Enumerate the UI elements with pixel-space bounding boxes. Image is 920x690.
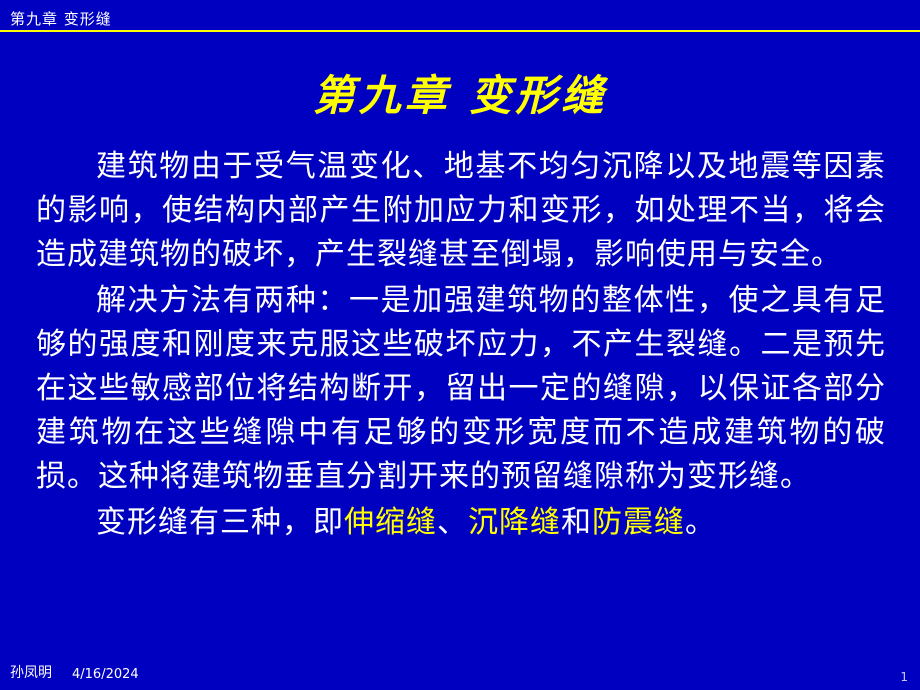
slide-body: 建筑物由于受气温变化、地基不均匀沉降以及地震等因素的影响，使结构内部产生附加应力… bbox=[36, 145, 886, 547]
slide-header-title: 第九章 变形缝 bbox=[10, 8, 112, 29]
text-run: 。 bbox=[685, 505, 716, 540]
page-title: 第九章 变形缝 bbox=[0, 62, 920, 123]
header-divider bbox=[0, 30, 920, 32]
paragraph-2: 解决方法有两种：一是加强建筑物的整体性，使之具有足够的强度和刚度来克服这些破坏应… bbox=[36, 279, 886, 499]
footer-page-number: 1 bbox=[900, 670, 908, 684]
footer-author: 孙凤明 bbox=[10, 662, 52, 682]
slide: 第九章 变形缝 第九章 变形缝 建筑物由于受气温变化、地基不均匀沉降以及地震等因… bbox=[0, 0, 920, 690]
footer-date: 4/16/2024 bbox=[72, 667, 139, 682]
text-run: 解决方法有两种：一是加强建筑物的整体性，使之具有足够的强度和刚度来克服这些破坏应… bbox=[36, 283, 886, 494]
paragraph-3: 变形缝有三种，即伸缩缝、沉降缝和防震缝。 bbox=[36, 501, 886, 545]
text-run: 、 bbox=[437, 505, 468, 540]
text-run: 沉降缝 bbox=[468, 505, 561, 540]
text-run: 变形缝有三种，即 bbox=[96, 505, 344, 540]
text-run: 伸缩缝 bbox=[344, 505, 437, 540]
text-run: 防震缝 bbox=[592, 505, 685, 540]
text-run: 和 bbox=[561, 505, 592, 540]
text-run: 建筑物由于受气温变化、地基不均匀沉降以及地震等因素的影响，使结构内部产生附加应力… bbox=[36, 149, 886, 272]
paragraph-1: 建筑物由于受气温变化、地基不均匀沉降以及地震等因素的影响，使结构内部产生附加应力… bbox=[36, 145, 886, 277]
